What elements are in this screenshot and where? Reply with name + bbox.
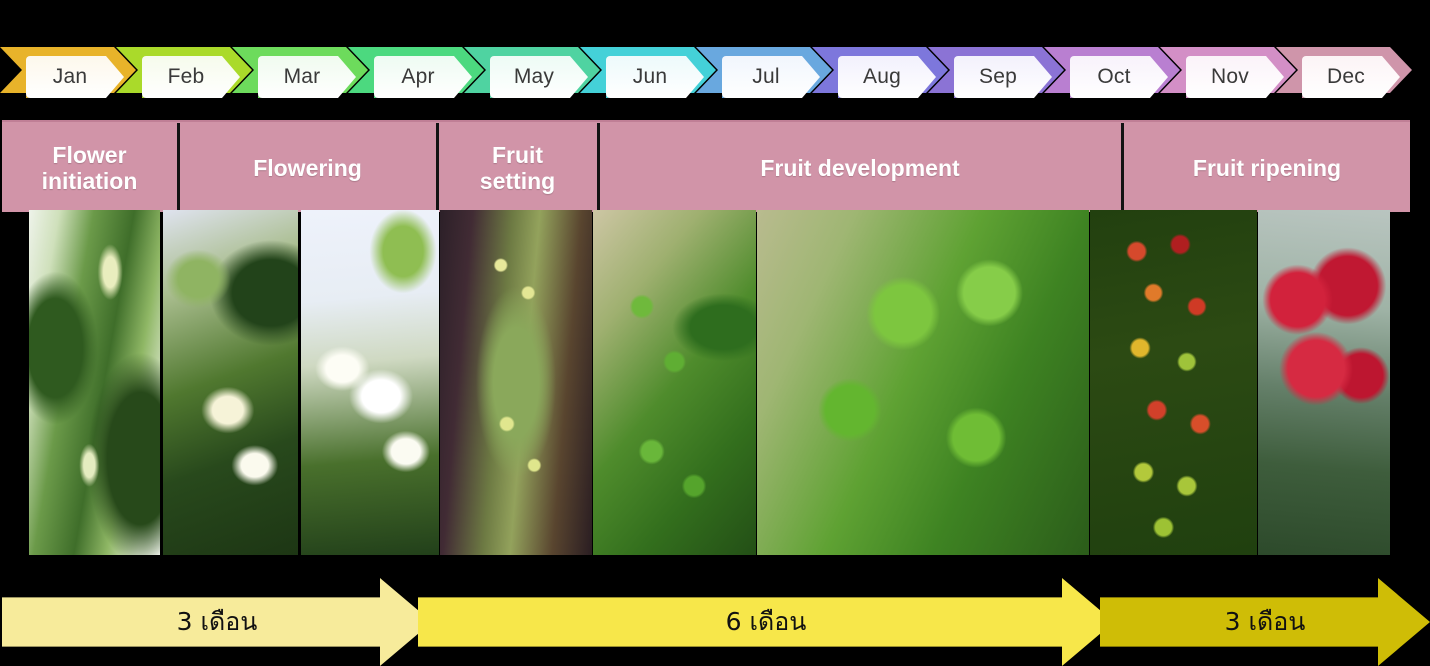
month-label: Nov bbox=[1211, 65, 1249, 89]
growth-phase-bar: Flower initiation Flowering Fruit settin… bbox=[2, 120, 1410, 212]
month-label: Oct bbox=[1097, 65, 1130, 89]
phase-label: Fruit setting bbox=[480, 142, 555, 194]
month-chevron-label-box: Aug bbox=[838, 56, 936, 98]
phase-label: Fruit ripening bbox=[1193, 155, 1341, 181]
duration-arrow-3-months-flowering[interactable]: 3 เดือน bbox=[2, 578, 432, 666]
phase-divider bbox=[177, 123, 180, 214]
month-chevron-label-box: Mar bbox=[258, 56, 356, 98]
photo-green-berries-small bbox=[593, 210, 756, 555]
slide-canvas: Jan Feb Mar Apr May bbox=[0, 0, 1430, 666]
photo-open-flowers bbox=[301, 210, 439, 555]
phase-divider bbox=[436, 123, 439, 214]
phase-label-line1: Flower bbox=[42, 142, 138, 168]
month-label: Aug bbox=[863, 65, 901, 89]
duration-label: 3 เดือน bbox=[1225, 602, 1306, 642]
month-chevron-label-box: Jul bbox=[722, 56, 820, 98]
photo-flower-buds-cluster bbox=[163, 210, 298, 555]
phase-label-line1: Fruit ripening bbox=[1193, 155, 1341, 181]
month-label: May bbox=[514, 65, 554, 89]
month-label: Jul bbox=[752, 65, 779, 89]
phase-label-line1: Fruit development bbox=[760, 155, 959, 181]
phase-label-line1: Flowering bbox=[253, 155, 362, 181]
month-chevron-label-box: Jan bbox=[26, 56, 124, 98]
phase-cell-fruit-setting[interactable]: Fruit setting bbox=[439, 122, 596, 214]
photo-flower-initiation-bud bbox=[29, 210, 160, 555]
month-chevron-label-box: Apr bbox=[374, 56, 472, 98]
month-timeline: Jan Feb Mar Apr May bbox=[0, 44, 1430, 106]
phase-label-line2: setting bbox=[480, 168, 555, 194]
phase-label: Flowering bbox=[253, 155, 362, 181]
phase-divider bbox=[597, 123, 600, 214]
month-label: Apr bbox=[401, 65, 434, 89]
month-chevron-label-box: Oct bbox=[1070, 56, 1168, 98]
photo-ripe-red bbox=[1258, 210, 1390, 555]
month-chevron-label-box: Feb bbox=[142, 56, 240, 98]
phase-label-line1: Fruit bbox=[480, 142, 555, 168]
month-chevron-label-box: Nov bbox=[1186, 56, 1284, 98]
month-chevron-label-box: Dec bbox=[1302, 56, 1400, 98]
phase-cell-flowering[interactable]: Flowering bbox=[180, 122, 435, 214]
phase-cell-fruit-ripening[interactable]: Fruit ripening bbox=[1124, 122, 1410, 214]
month-chip-dec[interactable]: Dec bbox=[1276, 44, 1412, 102]
duration-label: 3 เดือน bbox=[177, 602, 258, 642]
month-label: Jan bbox=[53, 65, 87, 89]
phase-label: Flower initiation bbox=[42, 142, 138, 194]
month-chevron-label-box: May bbox=[490, 56, 588, 98]
month-label: Sep bbox=[979, 65, 1017, 89]
month-label: Jun bbox=[633, 65, 667, 89]
phase-label-line2: initiation bbox=[42, 168, 138, 194]
month-chevron-label-box: Sep bbox=[954, 56, 1052, 98]
phase-divider bbox=[1121, 123, 1124, 214]
photo-fruit-setting bbox=[440, 210, 592, 555]
phase-cell-fruit-development[interactable]: Fruit development bbox=[600, 122, 1120, 214]
photo-strip bbox=[0, 210, 1430, 555]
month-label: Feb bbox=[168, 65, 205, 89]
month-label: Dec bbox=[1327, 65, 1365, 89]
month-label: Mar bbox=[284, 65, 321, 89]
duration-label: 6 เดือน bbox=[726, 602, 807, 642]
duration-arrow-6-months-development[interactable]: 6 เดือน bbox=[418, 578, 1114, 666]
photo-green-berries-large bbox=[757, 210, 1089, 555]
duration-arrow-row: 3 เดือน 6 เดือน 3 เดือน bbox=[0, 578, 1430, 666]
month-chevron-label-box: Jun bbox=[606, 56, 704, 98]
phase-cell-flower-initiation[interactable]: Flower initiation bbox=[2, 122, 177, 214]
photo-ripening-mixed bbox=[1090, 210, 1257, 555]
phase-label: Fruit development bbox=[760, 155, 959, 181]
duration-arrow-3-months-ripening[interactable]: 3 เดือน bbox=[1100, 578, 1430, 666]
